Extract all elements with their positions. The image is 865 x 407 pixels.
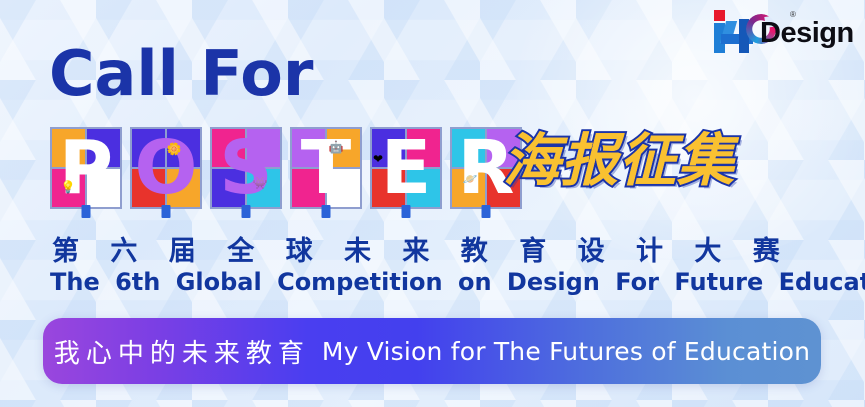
theme-banner-chinese: 我心中的未来教育 bbox=[54, 333, 310, 370]
letter-stand-pin bbox=[482, 205, 491, 218]
theme-banner: 我心中的未来教育 My Vision for The Futures of Ed… bbox=[43, 318, 821, 384]
poster-canvas: Design ® Call For P💡O🌼S👾T🤖E❤R🪐 海报征集 海报征集… bbox=[0, 0, 865, 407]
headline-chinese: 海报征集 bbox=[503, 133, 735, 190]
robot-icon: 🤖 bbox=[326, 137, 346, 157]
planet-icon: 🪐 bbox=[460, 169, 480, 189]
poster-letter-t: T🤖 bbox=[290, 127, 362, 209]
letter-stand-pin bbox=[242, 205, 251, 218]
letter-stand-pin bbox=[322, 205, 331, 218]
heart-icon: ❤ bbox=[368, 149, 388, 169]
monster-badge-icon: 👾 bbox=[250, 173, 270, 193]
letter-glyph: S bbox=[212, 129, 280, 207]
poster-letter-s: S👾 bbox=[210, 127, 282, 209]
subtitle-english: The 6th Global Competition on Design For… bbox=[50, 268, 825, 296]
lightbulb-icon: 💡 bbox=[58, 177, 78, 197]
letter-stand-pin bbox=[162, 205, 171, 218]
flower-badge-icon: 🌼 bbox=[164, 139, 184, 159]
logo-i-dot-shape bbox=[714, 10, 725, 21]
theme-banner-english: My Vision for The Futures of Education bbox=[322, 337, 810, 366]
letter-stand-pin bbox=[82, 205, 91, 218]
poster-letter-o: O🌼 bbox=[130, 127, 202, 209]
subtitle-chinese: 第 六 届 全 球 未 来 教 育 设 计 大 赛 bbox=[52, 229, 822, 268]
letter-glyph: T bbox=[292, 129, 360, 207]
letter-glyph: O bbox=[132, 129, 200, 207]
headline-call-for: Call For bbox=[49, 40, 313, 108]
poster-letter-p: P💡 bbox=[50, 127, 122, 209]
theme-banner-text: 我心中的未来教育 My Vision for The Futures of Ed… bbox=[54, 333, 810, 370]
poster-letter-e: E❤ bbox=[370, 127, 442, 209]
letter-stand-pin bbox=[402, 205, 411, 218]
logo-wordmark: Design bbox=[760, 19, 854, 48]
poster-letter-row: P💡O🌼S👾T🤖E❤R🪐 bbox=[50, 127, 522, 209]
i4design-logo[interactable]: Design bbox=[706, 8, 854, 54]
